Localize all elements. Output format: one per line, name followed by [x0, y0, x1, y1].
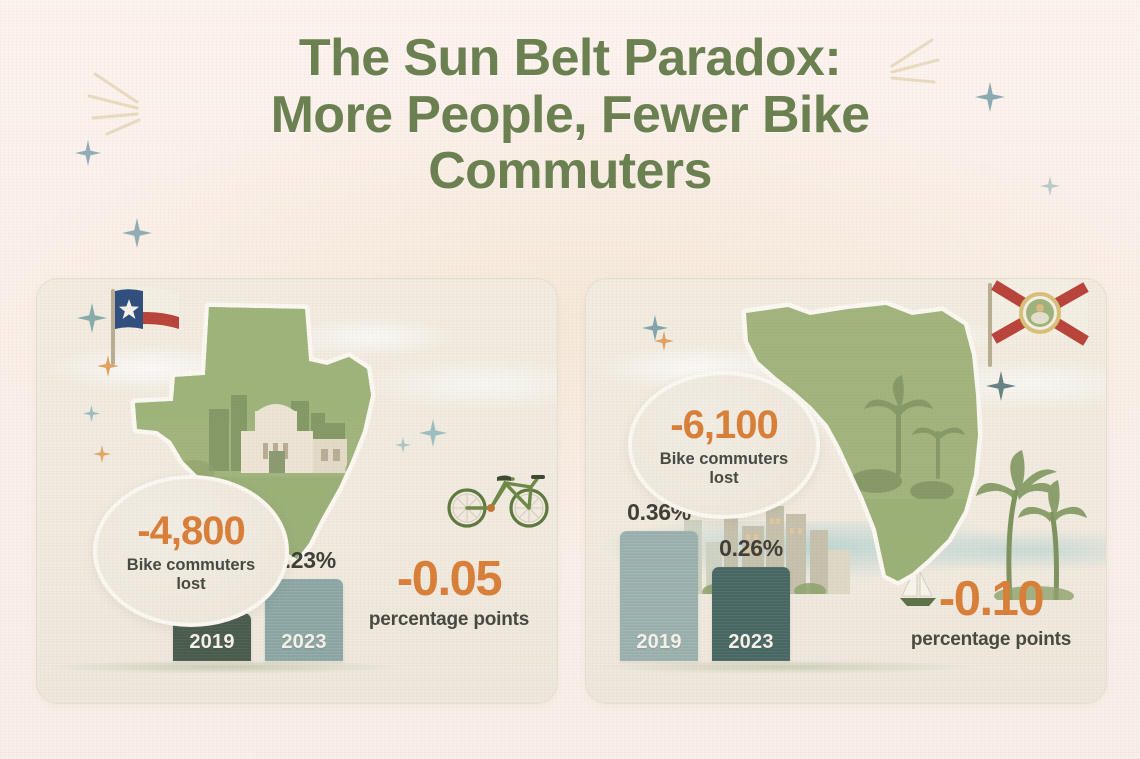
- callout-label-line2: lost: [127, 575, 255, 593]
- callout-value: -6,100: [670, 403, 777, 448]
- sparkle-icon: [122, 218, 152, 248]
- delta-value: -0.10: [878, 575, 1104, 624]
- bar-year-label-2019: 2019: [189, 631, 234, 661]
- sparkle-icon: [93, 445, 111, 463]
- page-title: The Sun Belt Paradox: More People, Fewer…: [0, 30, 1140, 200]
- bar-year-label-2019: 2019: [636, 631, 681, 661]
- bar-group-2019[interactable]: 0.36% 2019: [620, 531, 698, 661]
- bar-year-label-2023: 2023: [281, 631, 326, 661]
- delta-florida: -0.10 percentage points: [878, 575, 1104, 651]
- bar-2023[interactable]: 2023: [712, 567, 790, 661]
- delta-texas: -0.05 percentage points: [349, 555, 549, 631]
- delta-label: percentage points: [878, 629, 1104, 651]
- title-line-2: More People, Fewer Bike: [0, 87, 1140, 144]
- panels-container: -4,800 Bike commuters lost 2019 0.23%: [0, 278, 1140, 718]
- florida-flag-icon: [980, 278, 1107, 390]
- bar-value-2023: 0.26%: [719, 535, 783, 562]
- ground-shadow: [37, 659, 557, 675]
- bar-group-2023[interactable]: 0.23% 2023: [265, 579, 343, 661]
- bar-year-label-2023: 2023: [728, 631, 773, 661]
- callout-label-line2: lost: [660, 469, 788, 487]
- bar-2019[interactable]: 2019: [620, 531, 698, 661]
- bar-2023[interactable]: 2023: [265, 579, 343, 661]
- panel-florida[interactable]: -6,100 Bike commuters lost 0.36% 2019 0.…: [585, 278, 1107, 704]
- delta-value: -0.05: [349, 555, 549, 604]
- callout-texas: -4,800 Bike commuters lost: [93, 475, 289, 627]
- ground-shadow: [586, 659, 1106, 675]
- callout-label-line1: Bike commuters: [660, 450, 788, 468]
- panel-texas[interactable]: -4,800 Bike commuters lost 2019 0.23%: [36, 278, 558, 704]
- sparkle-icon: [654, 331, 674, 351]
- callout-value: -4,800: [137, 509, 244, 554]
- title-line-3: Commuters: [0, 143, 1140, 200]
- callout-label-line1: Bike commuters: [127, 556, 255, 574]
- texas-flag-icon: [95, 278, 205, 386]
- delta-label: percentage points: [349, 609, 549, 631]
- sparkle-icon: [83, 405, 100, 422]
- sparkle-icon: [419, 419, 447, 447]
- callout-florida: -6,100 Bike commuters lost: [628, 371, 820, 519]
- chart-florida: 0.36% 2019 0.26% 2023: [620, 541, 790, 661]
- title-line-1: The Sun Belt Paradox:: [299, 29, 841, 87]
- bar-group-2023[interactable]: 0.26% 2023: [712, 567, 790, 661]
- bicycle-icon: [445, 463, 551, 534]
